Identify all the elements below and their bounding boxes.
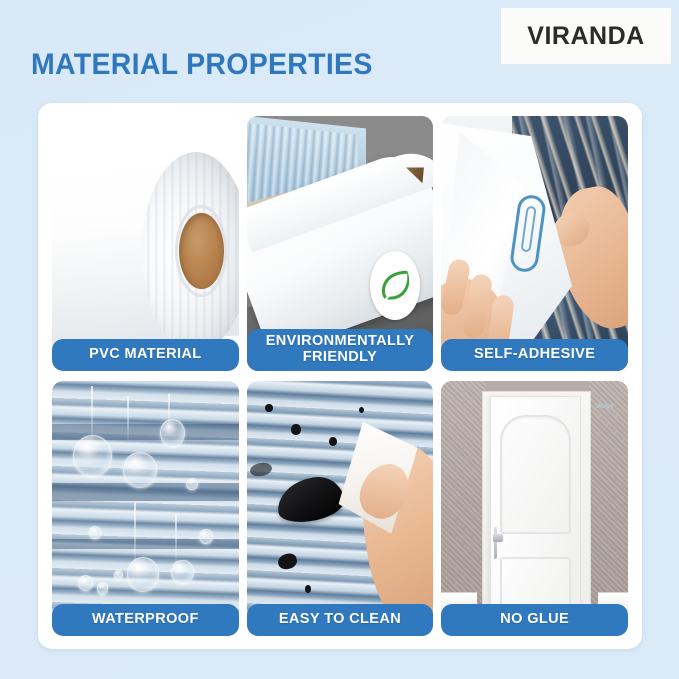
feature-card: PVC MATERIAL: [38, 103, 642, 649]
feature-tile-no-glue[interactable]: NO GLUE: [441, 381, 628, 636]
water-droplets-image: [52, 381, 239, 636]
self-adhesive-peel-image: [441, 116, 628, 371]
feature-label-easy-to-clean: EASY TO CLEAN: [247, 604, 434, 636]
brand-logo-text: VIRANDA: [527, 22, 644, 51]
green-leaf-eco-badge: [370, 251, 420, 320]
feature-label-self-adhesive: SELF-ADHESIVE: [441, 339, 628, 371]
feature-tile-pvc-material[interactable]: PVC MATERIAL: [52, 116, 239, 371]
feature-grid: PVC MATERIAL: [52, 116, 628, 636]
feature-label-no-glue: NO GLUE: [441, 604, 628, 636]
brand-logo: VIRANDA: [502, 9, 670, 63]
wipe-clean-image: [247, 381, 434, 636]
feature-label-pvc-material: PVC MATERIAL: [52, 339, 239, 371]
feature-tile-environmentally-friendly[interactable]: ENVIRONMENTALLY FRIENDLY: [247, 116, 434, 371]
leaf-icon: [376, 259, 414, 311]
feature-label-environmentally-friendly: ENVIRONMENTALLY FRIENDLY: [247, 329, 434, 371]
door-handle-icon: [493, 534, 504, 542]
infographic-page: VIRANDA MATERIAL PROPERTIES PVC MATERIAL: [0, 0, 679, 679]
feature-tile-easy-to-clean[interactable]: EASY TO CLEAN: [247, 381, 434, 636]
feature-tile-self-adhesive[interactable]: SELF-ADHESIVE: [441, 116, 628, 371]
pvc-roll-image: [52, 116, 239, 371]
feature-label-waterproof: WATERPROOF: [52, 604, 239, 636]
white-door-image: [441, 381, 628, 636]
page-title: MATERIAL PROPERTIES: [31, 48, 373, 82]
feature-tile-waterproof[interactable]: WATERPROOF: [52, 381, 239, 636]
